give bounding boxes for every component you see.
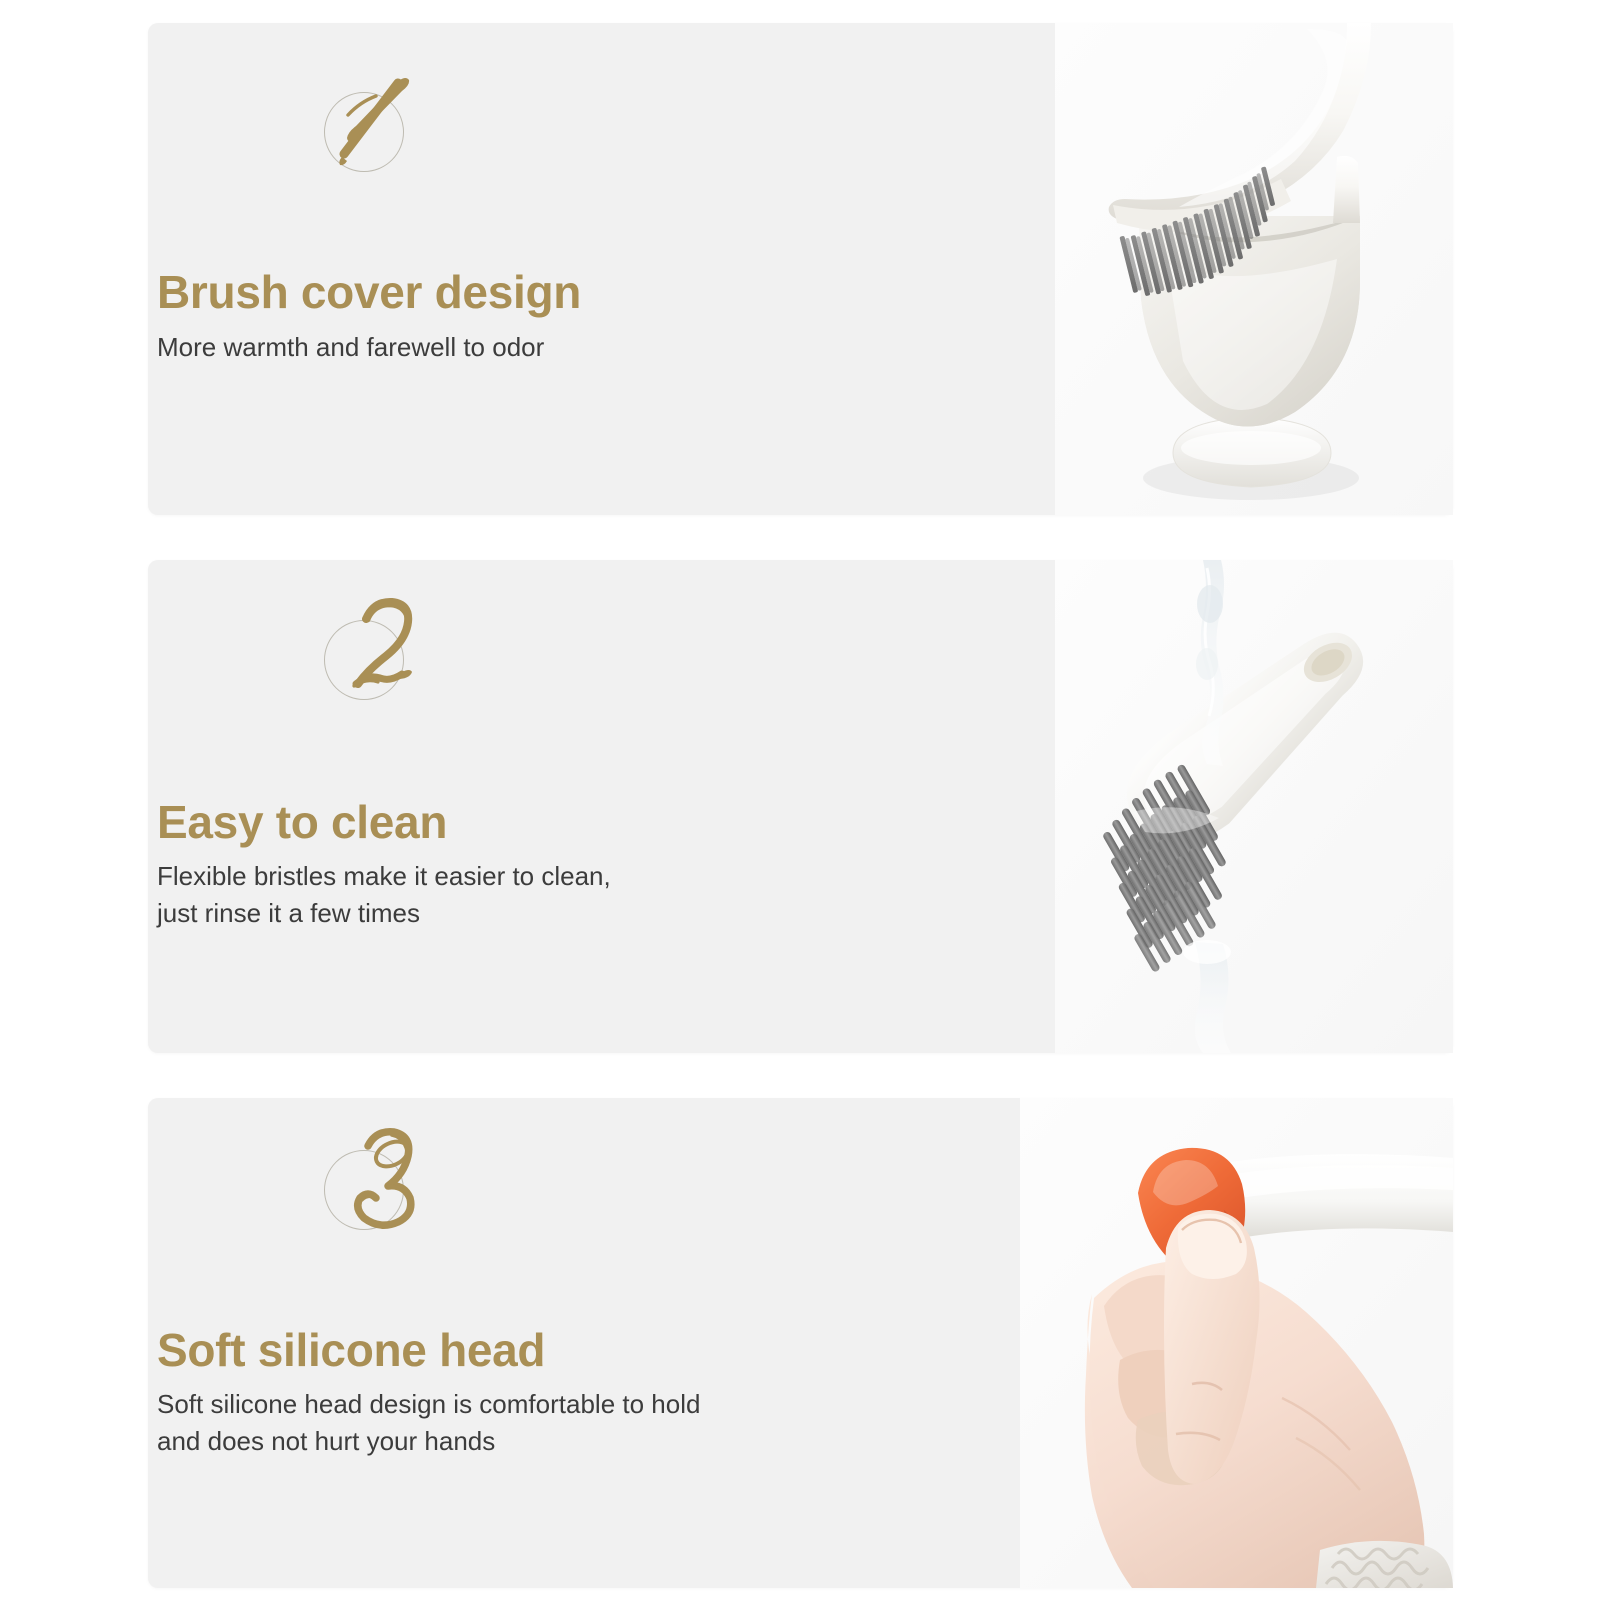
feature-text-block-1: Brush cover design More warmth and farew… [157,92,581,366]
feature-description-line: More warmth and farewell to odor [157,329,581,366]
badge-circle-outline [324,92,404,172]
step-number-two [324,620,406,702]
badge-circle-outline [324,1150,404,1230]
product-feature-page: Brush cover design More warmth and farew… [0,0,1601,1601]
feature-title: Easy to clean [157,798,611,846]
badge-circle-outline [324,620,404,700]
feature-description-line: just rinse it a few times [157,895,611,932]
step-number-three [324,1150,406,1232]
feature-description: Soft silicone head design is comfortable… [157,1386,700,1460]
feature-title: Brush cover design [157,268,581,316]
brush-with-cover-photo [1055,23,1453,515]
hand-squeezing-orange-silicone-head-photo [1020,1098,1453,1588]
feature-description: More warmth and farewell to odor [157,329,581,366]
feature-text-block-2: Easy to clean Flexible bristles make it … [157,620,611,932]
feature-description-line: Flexible bristles make it easier to clea… [157,858,611,895]
feature-text-block-3: Soft silicone head Soft silicone head de… [157,1150,700,1460]
brush-rinsing-under-water-photo [1055,560,1453,1053]
step-number-one [324,92,406,174]
feature-title: Soft silicone head [157,1326,700,1374]
feature-description: Flexible bristles make it easier to clea… [157,858,611,932]
feature-description-line: Soft silicone head design is comfortable… [157,1386,700,1423]
feature-description-line: and does not hurt your hands [157,1423,700,1460]
